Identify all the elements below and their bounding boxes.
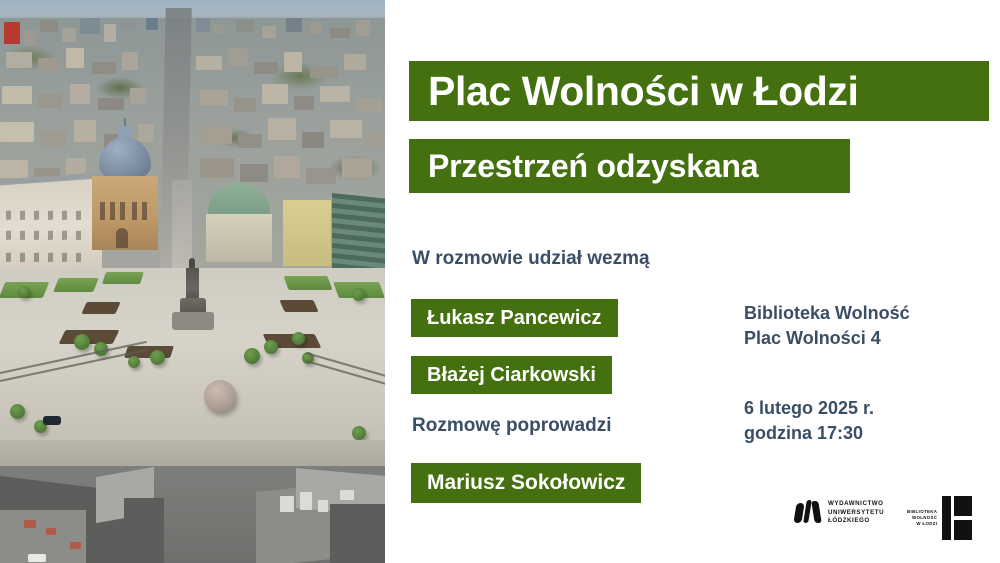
photo-monument-obelisk: [186, 268, 199, 302]
photo-glass-building: [332, 193, 385, 279]
photo-church-body: [92, 176, 158, 250]
wul-mark-icon: [795, 500, 821, 526]
bw-letter-b-icon: [942, 496, 972, 540]
event-date: 6 lutego 2025 r.: [744, 396, 874, 421]
speakers-lead-label: W rozmowie udział wezmą: [412, 248, 650, 270]
venue-block: Biblioteka Wolność Plac Wolności 4: [744, 301, 910, 351]
wul-logo-text: WYDAWNICTWO UNIWERSYTETU ŁÓDZKIEGO: [828, 500, 884, 525]
poster-subtitle: Przestrzeń odzyskana: [409, 148, 758, 185]
event-poster: Plac Wolności w Łodzi Przestrzeń odzyska…: [0, 0, 1000, 563]
moderator-lead-label: Rozmowę poprowadzi: [412, 415, 612, 437]
moderator-name: Mariusz Sokołowicz: [411, 471, 641, 495]
venue-line-2: Plac Wolności 4: [744, 326, 910, 351]
event-time: godzina 17:30: [744, 421, 874, 446]
speaker-name-1: Łukasz Pancewicz: [411, 307, 618, 330]
bw-logo-text: BIBLIOTEKA WOLNOŚĆ W ŁODZI: [907, 509, 937, 527]
speaker-chip-1: Łukasz Pancewicz: [411, 299, 618, 337]
photo-foreground-rooftops: [0, 466, 385, 563]
datetime-block: 6 lutego 2025 r. godzina 17:30: [744, 396, 874, 446]
speaker-name-2: Błażej Ciarkowski: [411, 364, 612, 387]
photo-yellow-tenement: [283, 200, 331, 266]
poster-subtitle-bar: Przestrzeń odzyskana: [409, 139, 850, 193]
poster-title-bar: Plac Wolności w Łodzi: [409, 61, 989, 121]
moderator-chip: Mariusz Sokołowicz: [411, 463, 641, 503]
wul-logo-line-2: UNIWERSYTETU: [828, 509, 884, 517]
poster-title: Plac Wolności w Łodzi: [409, 68, 859, 115]
photo-green-building-facade: [206, 214, 272, 262]
speaker-chip-2: Błażej Ciarkowski: [411, 356, 612, 394]
bw-logo-line-3: W ŁODZI: [907, 521, 937, 527]
logo-wydawnictwo-uniwersytetu-lodzkiego: WYDAWNICTWO UNIWERSYTETU ŁÓDZKIEGO: [795, 500, 884, 526]
photo-rotunda-pavilion: [204, 380, 236, 412]
aerial-photo-plac-wolnosci: [0, 0, 385, 563]
wul-logo-line-1: WYDAWNICTWO: [828, 500, 884, 508]
photo-monument-base: [172, 312, 214, 330]
logo-biblioteka-wolnosc: BIBLIOTEKA WOLNOŚĆ W ŁODZI: [907, 496, 972, 540]
logo-row: WYDAWNICTWO UNIWERSYTETU ŁÓDZKIEGO BIBLI…: [795, 496, 980, 542]
wul-logo-line-3: ŁÓDZKIEGO: [828, 517, 884, 525]
venue-line-1: Biblioteka Wolność: [744, 301, 910, 326]
poster-content: Plac Wolności w Łodzi Przestrzeń odzyska…: [385, 0, 1000, 563]
